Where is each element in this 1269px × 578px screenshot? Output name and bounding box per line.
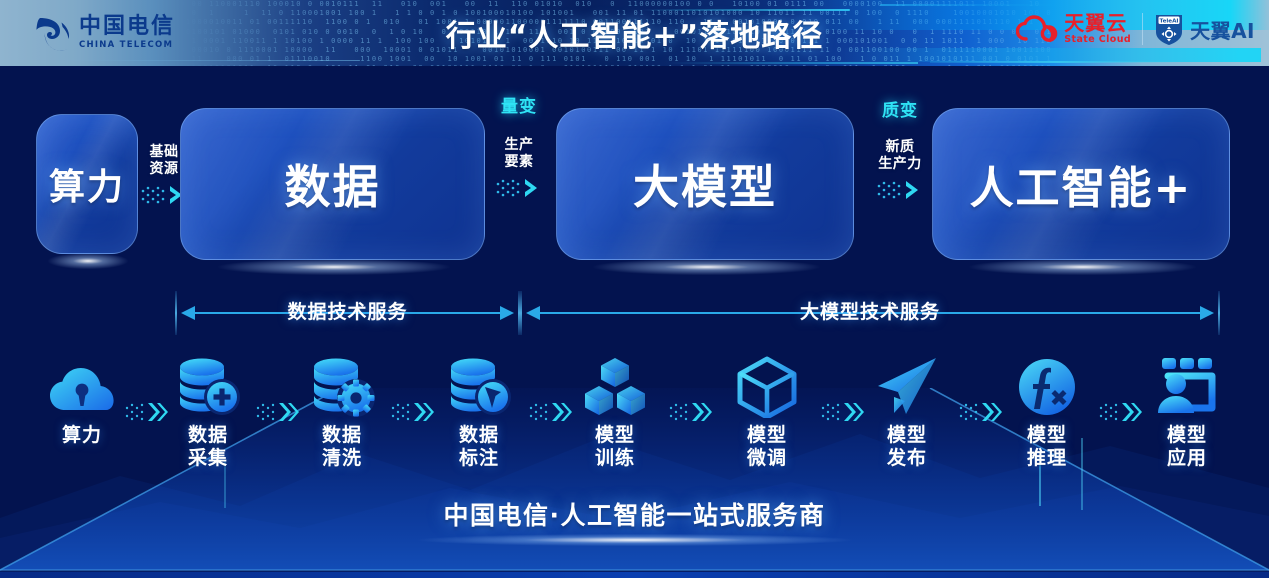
database-gear-icon: [287, 354, 397, 418]
step-model-training[interactable]: 模型 训练: [560, 354, 670, 470]
function-fx-icon: [992, 354, 1102, 418]
cloud-lock-icon: [27, 354, 137, 418]
header-underline-right: [930, 61, 1185, 63]
tianyi-cloud-cn-label: 天翼云: [1064, 13, 1131, 33]
bracket-data-tech-service-label: 数据技术服务: [175, 297, 520, 324]
app-header: 0 00 110001110 100010 0 0010111 11 010 0…: [0, 0, 1269, 66]
step-model-training-line1: 模型: [560, 424, 670, 447]
step-data-labeling[interactable]: 数据 标注: [424, 354, 534, 470]
step-model-release[interactable]: 模型 发布: [852, 354, 962, 470]
step-model-finetuning-line1: 模型: [712, 424, 822, 447]
connector-production-factors-phase: 量变: [492, 92, 546, 117]
teleai-badge-text: TeleAI: [1160, 18, 1179, 24]
footer-slogan: 中国电信·人工智能一站式服务商: [0, 496, 1269, 532]
connector-production-factors-line2: 要素: [492, 154, 546, 171]
bracket-data-tech-service: 数据技术服务: [175, 288, 520, 338]
step-model-inference[interactable]: 模型 推理: [992, 354, 1102, 470]
step-model-application[interactable]: 模型 应用: [1132, 354, 1242, 470]
step-model-application-line1: 模型: [1132, 424, 1242, 447]
main-stage: 算力 基础 资源 数据: [0, 66, 1269, 578]
tianyi-ai-logo: TeleAI 天翼AI: [1154, 12, 1255, 46]
step-data-collection-line2: 采集: [153, 447, 263, 470]
step-model-release-line2: 发布: [852, 447, 962, 470]
dotted-chevron-arrow-icon: [494, 175, 544, 201]
connector-production-factors: 量变 生产 要素: [492, 92, 546, 201]
bracket-model-tech-service: 大模型技术服务: [520, 288, 1220, 338]
node-ai-plus[interactable]: 人工智能+: [932, 108, 1230, 260]
connector-new-productivity-line1: 新质: [868, 139, 932, 156]
step-data-cleaning[interactable]: 数据 清洗: [287, 354, 397, 470]
tianyi-cloud-icon: [1016, 15, 1058, 43]
step-computing-power-line1: 算力: [62, 424, 102, 446]
user-app-icon: [1132, 354, 1242, 418]
step-data-collection-line1: 数据: [153, 424, 263, 447]
step-model-training-line2: 训练: [560, 447, 670, 470]
node-glow-2: [554, 256, 859, 278]
teleai-shield-icon: TeleAI: [1154, 12, 1184, 46]
connector-new-productivity-arrow: [868, 177, 932, 203]
bottom-base-bar: [0, 572, 1269, 578]
flow-nodes-row: 算力 基础 资源 数据: [0, 66, 1269, 281]
bracket-model-tech-service-label: 大模型技术服务: [520, 297, 1220, 324]
step-computing-power[interactable]: 算力: [27, 354, 137, 447]
header-accent-stripe-3: [60, 60, 360, 61]
step-model-application-line2: 应用: [1132, 447, 1242, 470]
dotted-chevron-arrow-icon: [872, 177, 928, 203]
step-data-collection[interactable]: 数据 采集: [153, 354, 263, 470]
tianyi-cloud-en-label: State Cloud: [1064, 35, 1131, 45]
partner-logos: 天翼云 State Cloud TeleAI 天翼AI: [1016, 12, 1255, 46]
connector-production-factors-line1: 生产: [492, 137, 546, 154]
node-large-model[interactable]: 大模型: [556, 108, 854, 260]
node-computing-power-label: 算力: [49, 158, 125, 210]
step-data-cleaning-line1: 数据: [287, 424, 397, 447]
tianyi-ai-label: 天翼AI: [1190, 15, 1255, 44]
footer-glow-line: [355, 532, 915, 548]
node-glow-0: [34, 250, 142, 272]
node-glow-1: [178, 256, 490, 278]
database-plus-icon: [153, 354, 263, 418]
step-model-finetuning-line2: 微调: [712, 447, 822, 470]
node-data-label: 数据: [285, 151, 381, 217]
connector-new-productivity: 质变 新质 生产力: [868, 96, 932, 203]
step-data-cleaning-line2: 清洗: [287, 447, 397, 470]
tianyi-cloud-logo: 天翼云 State Cloud: [1016, 13, 1131, 45]
connector-production-factors-arrow: [492, 175, 546, 201]
header-underline-left: [668, 62, 918, 64]
database-tag-icon: [424, 354, 534, 418]
cubes-icon: [560, 354, 670, 418]
connector-new-productivity-phase: 质变: [868, 96, 932, 121]
step-model-inference-line1: 模型: [992, 424, 1102, 447]
cube-outline-icon: [712, 354, 822, 418]
logo-divider: [1142, 13, 1143, 45]
node-glow-3: [930, 256, 1235, 278]
pipeline-chevron-icon: [668, 400, 712, 424]
node-computing-power[interactable]: 算力: [36, 114, 138, 254]
connector-new-productivity-line2: 生产力: [868, 156, 932, 173]
node-ai-plus-label: 人工智能+: [970, 152, 1193, 216]
node-large-model-label: 大模型: [633, 151, 777, 217]
step-model-inference-line2: 推理: [992, 447, 1102, 470]
step-model-release-line1: 模型: [852, 424, 962, 447]
step-model-finetuning[interactable]: 模型 微调: [712, 354, 822, 470]
step-data-labeling-line1: 数据: [424, 424, 534, 447]
pipeline-row: 算力: [0, 354, 1269, 484]
node-data[interactable]: 数据: [180, 108, 485, 260]
paper-plane-icon: [852, 354, 962, 418]
step-data-labeling-line2: 标注: [424, 447, 534, 470]
